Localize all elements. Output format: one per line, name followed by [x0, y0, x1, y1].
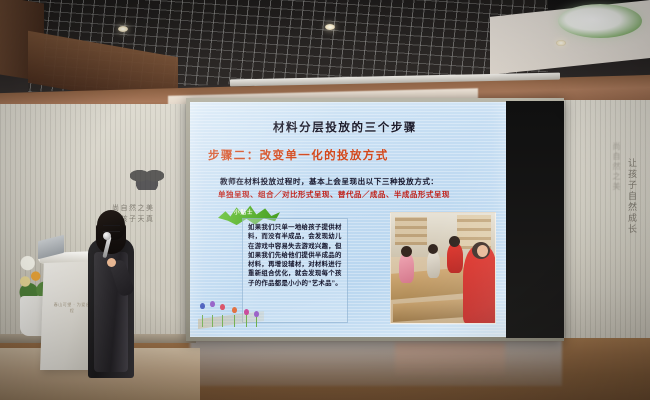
- slide-flower-decoration: [196, 287, 268, 329]
- slide-title: 材料分层投放的三个步骤: [190, 119, 500, 135]
- slide-body-line: 教师在材料投放过程时，基本上会呈现出以下三种投放方式：: [220, 176, 492, 187]
- slide-textbox-text: 如果我们只单一地给孩子提供材料，而没有半成品，会发现幼儿在游戏中容易失去游戏兴趣…: [248, 223, 342, 288]
- slide-subtitle: 步骤二：改变单一化的投放方式: [208, 147, 389, 163]
- presenter-glasses-icon: [103, 225, 120, 232]
- wall-slogan-line-1: 尚自然之美: [112, 203, 190, 214]
- photo-child-2: [427, 251, 440, 278]
- presentation-slide[interactable]: 材料分层投放的三个步骤 步骤二：改变单一化的投放方式 教师在材料投放过程时，基本…: [190, 102, 506, 337]
- flower-icon: [254, 311, 259, 317]
- slide-classroom-photo: [390, 212, 496, 324]
- leaf-banner-label: 小贴士: [234, 208, 254, 216]
- flower-icon: [200, 303, 205, 309]
- microphone-head-icon: [103, 232, 111, 240]
- slide-reflection-on-floor: [190, 340, 562, 386]
- downlight-icon: [118, 26, 128, 32]
- photo-child-1: [399, 253, 414, 283]
- wall-slogan-right: 让孩子自然成长: [625, 158, 638, 235]
- downlight-icon: [556, 40, 566, 46]
- slide-body-line-red: 单独呈现、组合／对比形式呈现、替代品／成品、半成品形式呈现: [218, 189, 506, 200]
- downlight-icon: [325, 24, 335, 30]
- photo-child-1-head: [401, 246, 412, 257]
- photo-shelf-left-icon: [395, 217, 427, 245]
- wall-slogan-right-faded: 尚自然之美: [610, 142, 622, 192]
- photo-child-3-head: [449, 236, 460, 247]
- photo-child-2-head: [428, 244, 438, 254]
- flower-icon: [244, 309, 249, 315]
- presentation-hall-photo: 材料分层投放的三个步骤 尚自然之美 还孩子天真 尚自然之美 让孩子自然成长 材料…: [0, 0, 650, 400]
- presenter: [84, 214, 136, 374]
- flower-icon: [210, 301, 215, 307]
- presenter-hand: [107, 258, 116, 267]
- photo-child-3: [447, 243, 463, 273]
- screen-dark-panel: [506, 101, 564, 338]
- flower-icon: [232, 307, 237, 313]
- green-circular-ceiling-light: [558, 4, 642, 38]
- cloud-emblem-icon: [130, 168, 164, 190]
- flower-icon: [220, 304, 225, 310]
- photo-teacher-face: [477, 245, 488, 257]
- photo-reflection-on-floor: [395, 342, 505, 376]
